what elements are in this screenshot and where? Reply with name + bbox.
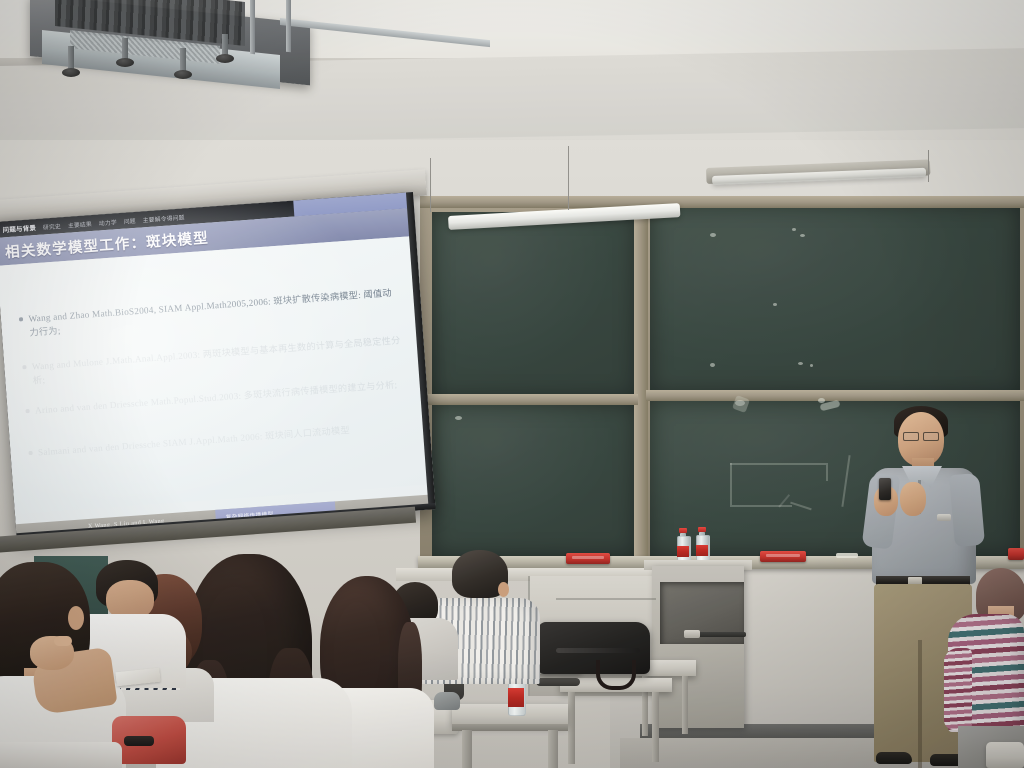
blackboard-mullion-right <box>646 390 1024 401</box>
presentation-slide: 问题与背景 研究史 主要结果 动力学 问题 主要解令得问题 相关数学模型工作：斑… <box>0 192 436 539</box>
blackboard-panel-bottom-left <box>432 404 636 556</box>
chalk-drawing <box>826 463 828 481</box>
desk-leg <box>462 730 472 768</box>
slide-bullet-0: Wang and Zhao Math.BioS2004, SIAM Appl.M… <box>19 285 402 340</box>
slide-bullet-1: Wang and Mulone J.Math.Anal.Appl.2003: 两… <box>22 333 405 388</box>
bullet-dot-icon <box>22 365 26 369</box>
chalk-mark <box>810 364 813 367</box>
bullet-dot-icon <box>25 409 29 413</box>
front-desk-surface <box>0 742 122 768</box>
desk-item-cup <box>434 692 460 710</box>
slide-nav-item-0: 研究史 <box>43 221 62 231</box>
slide-bullet-text-3: Salmani and van den Driessche SIAM J.App… <box>38 423 351 459</box>
bullet-dot-icon <box>28 451 32 455</box>
attendee-ear <box>498 582 509 597</box>
attendee-finger <box>54 636 72 646</box>
water-bottle-ledge-2 <box>694 527 710 560</box>
bag-clasp <box>124 736 154 746</box>
slide-bullet-text-0: Wang and Zhao Math.BioS2004, SIAM Appl.M… <box>28 285 401 340</box>
bottle-label <box>508 688 524 707</box>
chalk-mark <box>800 234 805 237</box>
blackboard-panel-top-left <box>432 212 636 398</box>
slide-nav-item-1: 主要结果 <box>68 219 93 230</box>
slide-nav-item-3: 问题 <box>123 215 136 225</box>
water-bottle-ledge-1 <box>675 528 691 560</box>
projector-foot <box>216 54 234 63</box>
eyeglass-lens-left <box>903 432 919 441</box>
blackboard-mullion-left <box>424 394 638 405</box>
eyeglasses-icon <box>903 432 939 439</box>
bag-strap <box>556 648 640 653</box>
slide-content-body: Wang and Zhao Math.BioS2004, SIAM Appl.M… <box>0 236 434 514</box>
chalk-stick <box>836 553 858 558</box>
bottle-label <box>677 546 689 557</box>
chalk-mark <box>792 228 796 231</box>
desk-leg <box>682 676 688 734</box>
chalk-drawing <box>730 463 732 505</box>
chair-armrest <box>536 678 580 686</box>
light-suspension-wire <box>568 146 569 210</box>
bullet-dot-icon <box>19 317 23 321</box>
lectern-connector <box>684 630 700 638</box>
desk-leg <box>568 692 575 764</box>
projector-foot <box>62 68 80 77</box>
light-suspension-wire <box>430 158 431 212</box>
eraser-highlight <box>572 556 604 559</box>
chalk-mark <box>773 303 777 306</box>
blackboard-panel-top-right <box>650 204 1020 394</box>
slide-nav-item-4: 主要解令得问题 <box>142 212 185 224</box>
slide-bullet-3: Salmani and van den Driessche SIAM J.App… <box>28 423 350 460</box>
chalk-mark <box>710 363 715 367</box>
presentation-remote[interactable] <box>879 478 891 500</box>
projector-foot <box>116 58 134 67</box>
presenter-right-hand <box>900 482 926 516</box>
chalk-drawing <box>730 505 792 507</box>
bottle-label <box>696 545 708 556</box>
chair-backrest[interactable] <box>986 742 1024 768</box>
chalk-mark <box>455 416 462 420</box>
slide-nav-item-2: 动力学 <box>98 217 117 227</box>
projection-screen: 问题与背景 研究史 主要结果 动力学 问题 主要解令得问题 相关数学模型工作：斑… <box>0 192 436 539</box>
light-suspension-wire <box>928 150 929 182</box>
attendee-ear <box>68 606 84 630</box>
eyeglass-lens-right <box>923 432 939 441</box>
presenter-shoe-left <box>876 752 912 764</box>
cage-post <box>286 0 291 52</box>
desk-leg <box>652 692 659 762</box>
lecture-hall-photo: PanBoard 问题与背景 研究史 主要结果 动力学 问题 主要解令得问题 相… <box>0 0 1024 768</box>
trouser-leg-seam <box>918 640 922 768</box>
slide-bullet-text-1: Wang and Mulone J.Math.Anal.Appl.2003: 两… <box>31 333 404 388</box>
wristwatch <box>937 514 951 521</box>
attendee-sleeve <box>944 648 972 730</box>
cabinet-seam <box>556 598 656 600</box>
cage-post <box>250 0 255 54</box>
slide-nav-title: 问题与背景 <box>2 222 36 234</box>
presenter-right-arm <box>949 473 985 547</box>
blackboard-eraser-far <box>1008 548 1024 560</box>
eraser-highlight <box>766 554 800 557</box>
fluorescent-housing-far-right <box>1004 172 1024 185</box>
chalk-mark <box>710 233 716 237</box>
chalk-drawing <box>730 463 826 465</box>
blackboard-mullion-center <box>634 200 648 562</box>
chalk-mark <box>798 362 803 365</box>
projector-foot <box>174 70 192 79</box>
bag-handle <box>596 660 636 690</box>
desk-leg <box>548 730 558 768</box>
